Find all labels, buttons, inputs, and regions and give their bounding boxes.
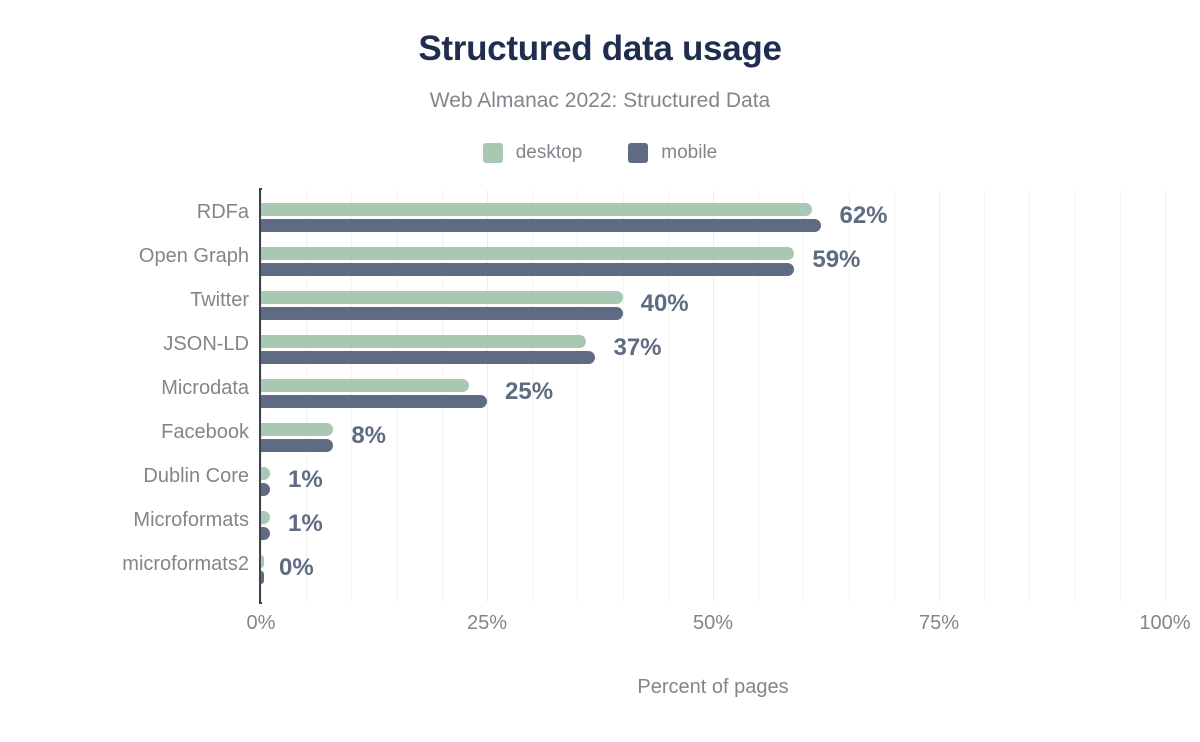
chart-legend: desktop mobile (0, 142, 1200, 164)
y-tick-label: Twitter (0, 289, 249, 312)
x-axis-title: Percent of pages (261, 676, 1165, 699)
bar-desktop-open-graph[interactable] (261, 247, 794, 260)
bar-value-label: 0% (279, 554, 314, 582)
bar-desktop-microformats2[interactable] (261, 555, 264, 568)
chart-container: Structured data usage Web Almanac 2022: … (0, 0, 1200, 742)
chart-subtitle: Web Almanac 2022: Structured Data (0, 89, 1200, 113)
gridline (1165, 190, 1166, 602)
bar-value-label: 25% (505, 378, 553, 406)
legend-label-mobile: mobile (661, 142, 717, 164)
bar-row: 0% (261, 542, 1165, 586)
bar-row: 1% (261, 498, 1165, 542)
y-tick-label: JSON-LD (0, 333, 249, 356)
x-tick-label: 0% (247, 612, 276, 635)
y-tick-label: Open Graph (0, 245, 249, 268)
chart-title: Structured data usage (0, 30, 1200, 69)
legend-item-mobile[interactable]: mobile (628, 142, 717, 164)
x-tick-label: 25% (467, 612, 507, 635)
plot-area: 62%59%40%37%25%8%1%1%0% (261, 190, 1165, 602)
bar-mobile-microformats[interactable] (261, 527, 270, 540)
bar-desktop-rdfa[interactable] (261, 203, 812, 216)
x-tick-label: 100% (1139, 612, 1190, 635)
legend-swatch-desktop (483, 143, 503, 163)
bar-row: 1% (261, 454, 1165, 498)
bar-row: 62% (261, 190, 1165, 234)
bar-rows: 62%59%40%37%25%8%1%1%0% (261, 190, 1165, 602)
bar-desktop-microdata[interactable] (261, 379, 469, 392)
bar-mobile-microdata[interactable] (261, 395, 487, 408)
bar-mobile-dublin-core[interactable] (261, 483, 270, 496)
x-axis-tick-labels: 0%25%50%75%100% (261, 612, 1165, 642)
bar-value-label: 8% (351, 422, 386, 450)
y-tick-label: microformats2 (0, 553, 249, 576)
bar-row: 8% (261, 410, 1165, 454)
bar-desktop-dublin-core[interactable] (261, 467, 270, 480)
legend-swatch-mobile (628, 143, 648, 163)
bar-mobile-facebook[interactable] (261, 439, 333, 452)
bar-value-label: 1% (288, 466, 323, 494)
bar-mobile-microformats2[interactable] (261, 571, 264, 584)
bar-row: 59% (261, 234, 1165, 278)
bar-value-label: 62% (839, 202, 887, 230)
y-axis-tick-labels: RDFaOpen GraphTwitterJSON-LDMicrodataFac… (0, 190, 249, 602)
bar-value-label: 40% (641, 290, 689, 318)
bar-row: 25% (261, 366, 1165, 410)
bar-mobile-open-graph[interactable] (261, 263, 794, 276)
bar-value-label: 37% (613, 334, 661, 362)
legend-label-desktop: desktop (516, 142, 583, 164)
bar-desktop-json-ld[interactable] (261, 335, 586, 348)
y-tick-label: RDFa (0, 201, 249, 224)
x-tick-label: 50% (693, 612, 733, 635)
bar-desktop-facebook[interactable] (261, 423, 333, 436)
bar-desktop-twitter[interactable] (261, 291, 623, 304)
y-tick-label: Microformats (0, 509, 249, 532)
bar-desktop-microformats[interactable] (261, 511, 270, 524)
x-tick-label: 75% (919, 612, 959, 635)
bar-mobile-rdfa[interactable] (261, 219, 821, 232)
y-tick-label: Microdata (0, 377, 249, 400)
bar-mobile-json-ld[interactable] (261, 351, 595, 364)
bar-row: 37% (261, 322, 1165, 366)
bar-value-label: 1% (288, 510, 323, 538)
bar-value-label: 59% (812, 246, 860, 274)
bar-row: 40% (261, 278, 1165, 322)
legend-item-desktop[interactable]: desktop (483, 142, 583, 164)
bar-mobile-twitter[interactable] (261, 307, 623, 320)
y-tick-label: Facebook (0, 421, 249, 444)
y-tick-label: Dublin Core (0, 465, 249, 488)
